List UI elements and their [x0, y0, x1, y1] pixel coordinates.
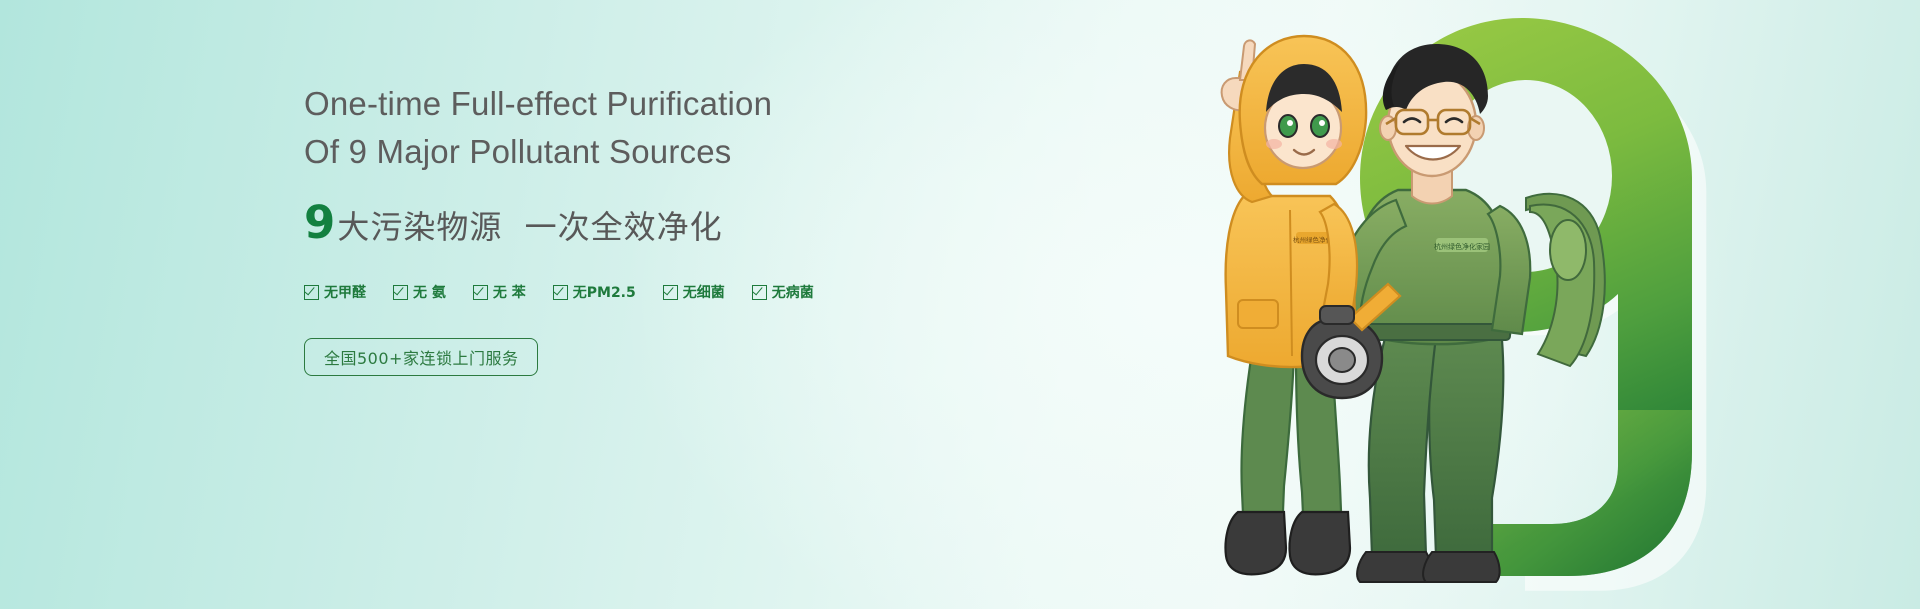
checkbox-checked-icon [393, 285, 408, 300]
feature-badge-label: 无甲醛 [324, 282, 366, 302]
checkbox-checked-icon [752, 285, 767, 300]
purifier-device [1302, 284, 1400, 398]
numeral-halo [1389, 45, 1706, 591]
feature-badge: 无 苯 [473, 282, 526, 302]
pointing-finger [1240, 40, 1255, 80]
feature-badge-label: 无 苯 [493, 282, 526, 302]
adult-technician-figure: 杭州绿色净化家园 [1315, 44, 1605, 582]
feature-badge-label: 无细菌 [683, 282, 725, 302]
headline-chinese-text: 大污染物源 一次全效净化 [337, 206, 722, 248]
feature-badge: 无 氨 [393, 282, 446, 302]
headline-chinese-number: 9 [304, 202, 336, 244]
hero-illustration: 杭州绿色净化家园 [1200, 0, 1920, 609]
feature-badge: 无细菌 [663, 282, 725, 302]
checkbox-checked-icon [663, 285, 678, 300]
feature-badge-label: 无PM2.5 [573, 282, 636, 302]
feature-badge: 无PM2.5 [553, 282, 636, 302]
child-hood [1240, 36, 1366, 184]
adult-uniform-badge-text: 杭州绿色净化家园 [1434, 242, 1490, 251]
child-uniform-badge-text: 杭州绿色净化家园 [1293, 235, 1345, 244]
big-nine-numeral [1360, 18, 1692, 576]
feature-badge: 无甲醛 [304, 282, 366, 302]
checkbox-checked-icon [304, 285, 319, 300]
nationwide-service-cta-button[interactable]: 全国500+家连锁上门服务 [304, 338, 538, 376]
child-figure: 杭州绿色净化家园 [1222, 36, 1400, 574]
eyeglasses [1386, 110, 1480, 134]
checkbox-checked-icon [553, 285, 568, 300]
feature-badge: 无病菌 [752, 282, 814, 302]
banner-text-block: One-time Full-effect Purification Of 9 M… [304, 80, 1104, 376]
feature-badge-label: 无病菌 [772, 282, 814, 302]
headline-chinese: 9 大污染物源 一次全效净化 [304, 202, 1104, 248]
headline-english: One-time Full-effect Purification Of 9 M… [304, 80, 1104, 176]
checkbox-checked-icon [473, 285, 488, 300]
feature-badge-label: 无 氨 [413, 282, 446, 302]
feature-badge-list: 无甲醛 无 氨 无 苯 无PM2.5 无细菌 无病菌 [304, 282, 1104, 302]
promo-banner: 杭州绿色净化家园 [0, 0, 1920, 609]
